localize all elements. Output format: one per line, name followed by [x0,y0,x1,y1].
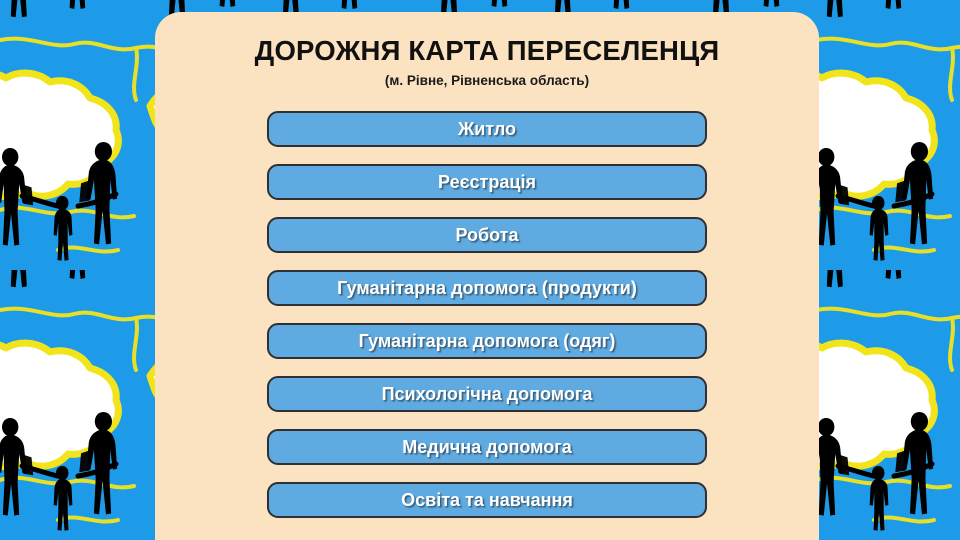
menu-button-registration[interactable]: Реєстрація [267,164,707,200]
menu-button-label: Житло [458,120,516,138]
page-subtitle: (м. Рівне, Рівненська область) [155,73,819,88]
menu-button-work[interactable]: Робота [267,217,707,253]
menu-button-label: Психологічна допомога [382,385,593,403]
menu-button-label: Гуманітарна допомога (одяг) [359,332,616,350]
menu-button-humanitarian-aid-food[interactable]: Гуманітарна допомога (продукти) [267,270,707,306]
menu-button-label: Гуманітарна допомога (продукти) [337,279,637,297]
menu-button-label: Робота [455,226,518,244]
menu-button-housing[interactable]: Житло [267,111,707,147]
menu-button-label: Реєстрація [438,173,536,191]
menu-button-humanitarian-aid-clothing[interactable]: Гуманітарна допомога (одяг) [267,323,707,359]
roadmap-menu: ЖитлоРеєстраціяРоботаГуманітарна допомог… [155,111,819,518]
roadmap-card: ДОРОЖНЯ КАРТА ПЕРЕСЕЛЕНЦЯ (м. Рівне, Рів… [155,12,819,540]
menu-button-label: Медична допомога [402,438,571,456]
menu-button-label: Освіта та навчання [401,491,573,509]
menu-button-psychological-help[interactable]: Психологічна допомога [267,376,707,412]
page-title: ДОРОЖНЯ КАРТА ПЕРЕСЕЛЕНЦЯ [155,36,819,66]
menu-button-education-and-training[interactable]: Освіта та навчання [267,482,707,518]
menu-button-medical-help[interactable]: Медична допомога [267,429,707,465]
